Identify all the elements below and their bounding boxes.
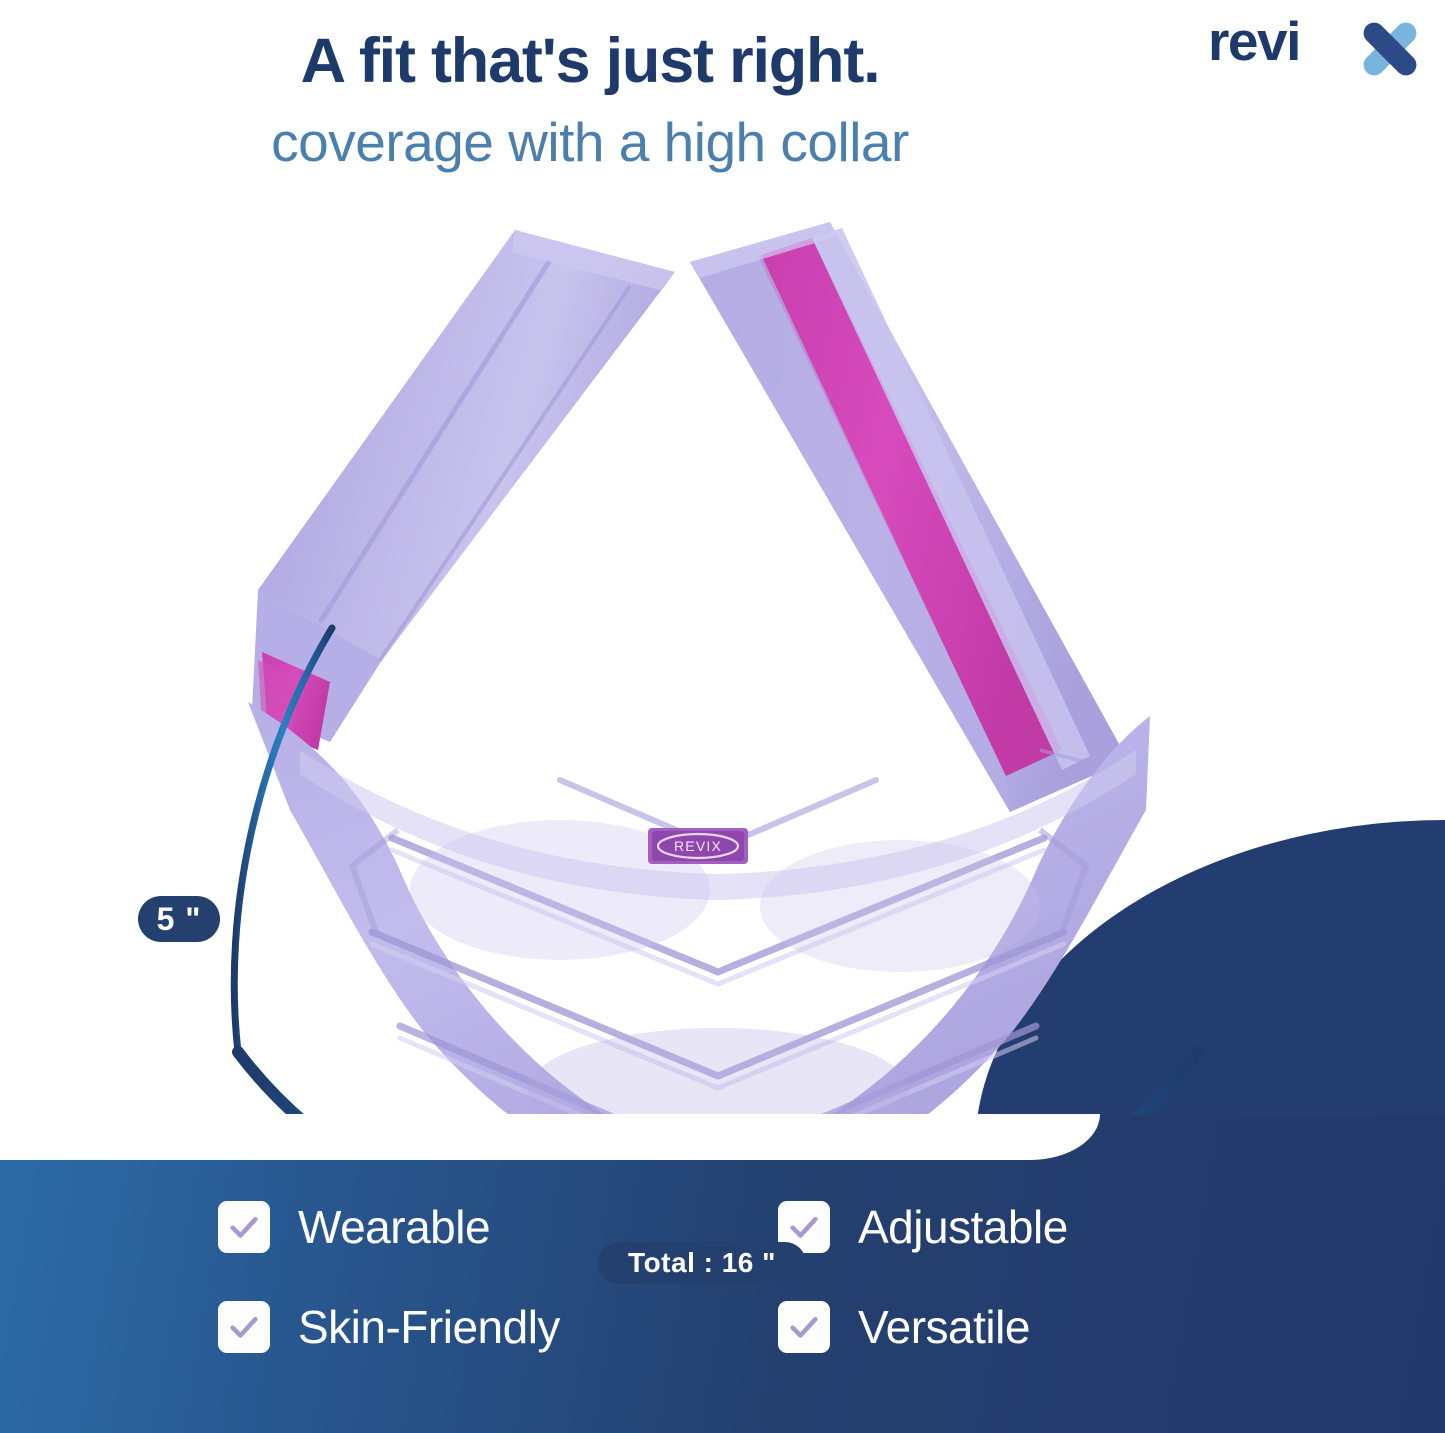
- left-strap: [252, 230, 675, 742]
- product-hero: REVIX 5 " Total : 16 ": [0, 190, 1445, 1120]
- check-icon: [218, 1201, 270, 1253]
- header: A fit that's just right. coverage with a…: [0, 0, 1445, 200]
- brand-logo-text: revi: [1208, 14, 1300, 69]
- feature-item: Adjustable: [778, 1201, 1228, 1253]
- product-brand-tag: REVIX: [648, 828, 748, 864]
- brand-logo: revi: [1208, 8, 1423, 80]
- feature-item: Skin-Friendly: [218, 1301, 778, 1353]
- feature-label: Skin-Friendly: [298, 1304, 560, 1350]
- right-strap: [690, 222, 1128, 812]
- check-icon: [778, 1301, 830, 1353]
- total-measurement-badge: Total : 16 ": [598, 1242, 806, 1284]
- product-illustration: REVIX: [0, 190, 1445, 1120]
- feature-label: Adjustable: [858, 1204, 1068, 1250]
- right-strap-magenta-stripe: [758, 238, 1062, 776]
- feature-item: Versatile: [778, 1301, 1228, 1353]
- check-icon: [218, 1301, 270, 1353]
- x-bandage-icon: [1353, 18, 1427, 80]
- feature-label: Versatile: [858, 1304, 1030, 1350]
- height-measurement-badge: 5 ": [138, 896, 220, 942]
- page-title: A fit that's just right.: [0, 28, 1180, 94]
- feature-label: Wearable: [298, 1204, 490, 1250]
- svg-text:REVIX: REVIX: [674, 838, 722, 854]
- page-subtitle: coverage with a high collar: [0, 113, 1180, 172]
